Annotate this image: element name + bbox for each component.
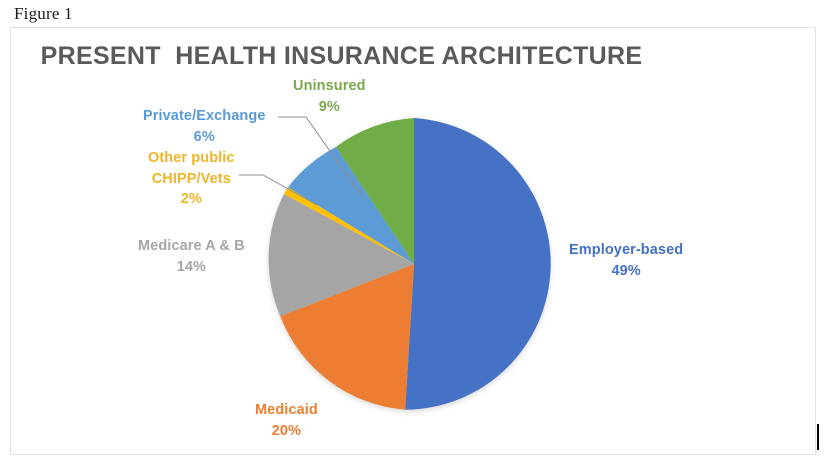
pie-chart-plot-area [11,28,817,454]
pie-label-uninsured-percent: 9% [293,97,366,118]
pie-slices-group [269,118,551,410]
pie-label-medicare-name: Medicare A & B [138,236,245,257]
pie-label-employer-based: Employer-based 49% [569,240,683,281]
pie-label-other-public-line2: CHIPP/Vets [148,169,235,190]
pie-label-private-exchange: Private/Exchange 6% [143,106,266,147]
pie-label-other-public-chipp-vets: Other public CHIPP/Vets 2% [148,148,235,210]
chart-frame: PRESENT HEALTH INSURANCE ARCHITECTURE [10,27,816,455]
text-cursor-caret [817,424,819,450]
pie-label-employer-based-name: Employer-based [569,240,683,261]
pie-label-medicaid-name: Medicaid [255,400,318,421]
pie-label-other-public-line1: Other public [148,148,235,169]
pie-label-uninsured: Uninsured 9% [293,76,366,117]
pie-label-medicare-a-and-b: Medicare A & B 14% [138,236,245,277]
pie-label-private-exchange-percent: 6% [143,127,266,148]
pie-chart-svg [11,28,817,454]
pie-label-medicaid-percent: 20% [255,421,318,442]
figure-caption: Figure 1 [14,4,73,24]
pie-label-uninsured-name: Uninsured [293,76,366,97]
pie-label-medicare-percent: 14% [138,257,245,278]
pie-label-medicaid: Medicaid 20% [255,400,318,441]
pie-slice-employer-based[interactable] [405,118,550,410]
pie-label-private-exchange-name: Private/Exchange [143,106,266,127]
pie-label-other-public-percent: 2% [148,189,235,210]
pie-label-employer-based-percent: 49% [569,261,683,282]
